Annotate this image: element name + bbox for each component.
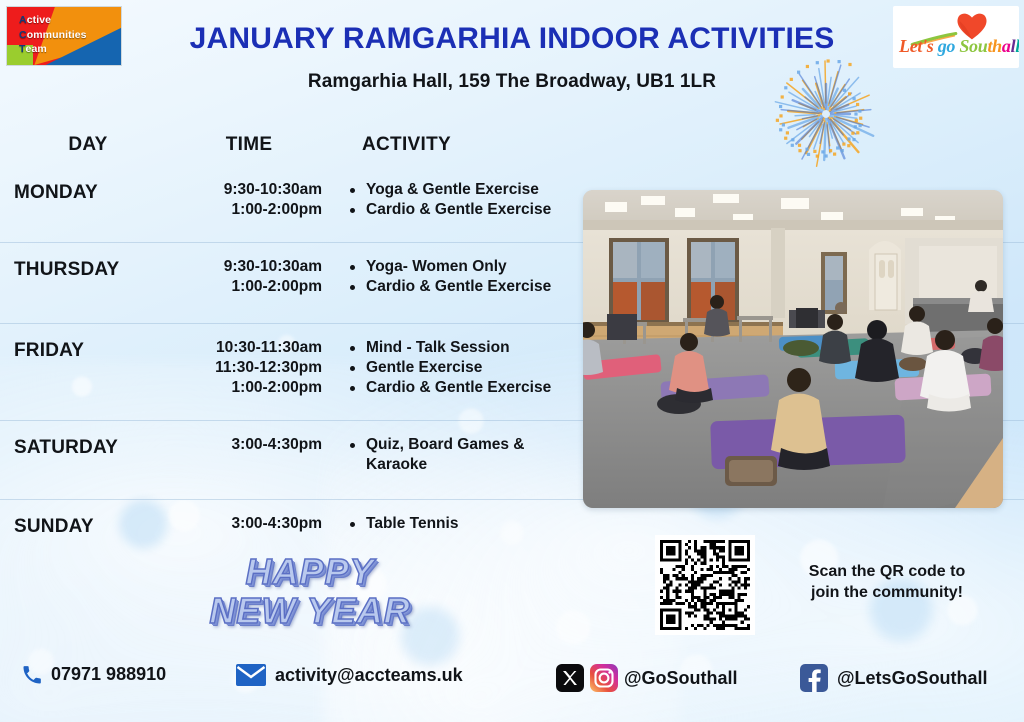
row-time: 10:30-11:30am [176, 338, 322, 358]
email-address: activity@accteams.uk [275, 665, 463, 686]
row-activity-list: Table Tennis [348, 514, 1024, 534]
row-day-label: MONDAY [14, 182, 98, 203]
contact-footer: 07971 988910 activity@accteams.uk [0, 658, 1024, 708]
row-day-label: SATURDAY [14, 437, 118, 458]
qr-section: Scan the QR code to join the community! [655, 535, 995, 639]
instagram-icon[interactable] [590, 664, 618, 692]
activity-item: Table Tennis [348, 514, 1024, 534]
row-time: 9:30-10:30am [176, 257, 322, 277]
social-gosouthall[interactable]: @GoSouthall [556, 664, 738, 692]
act-logo-active: ctive [27, 14, 51, 26]
row-time: 3:00-4:30pm [176, 514, 322, 534]
row-day-label: FRIDAY [14, 340, 84, 361]
contact-phone[interactable]: 07971 988910 [22, 664, 166, 685]
poster-canvas: Active Communities Team Let's go Southal… [0, 0, 1024, 722]
qr-caption-line-2: join the community! [779, 582, 995, 603]
yoga-class-photo [583, 190, 1003, 508]
social-handle-letsgosouthall: @LetsGoSouthall [837, 668, 988, 689]
facebook-icon[interactable] [800, 664, 828, 692]
act-logo-c: C [19, 29, 27, 41]
table-header-row: DAY TIME ACTIVITY [0, 130, 1024, 172]
qr-caption: Scan the QR code to join the community! [779, 561, 995, 603]
act-logo-team: eam [26, 43, 47, 55]
hny-line-2: NEW YEAR [190, 591, 430, 630]
column-header-time: TIME [176, 134, 322, 156]
act-logo-a: A [19, 14, 27, 26]
happy-new-year-text: HAPPY NEW YEAR [190, 552, 430, 630]
row-time: 1:00-2:00pm [176, 200, 322, 220]
row-day-label: THURSDAY [14, 259, 119, 280]
column-header-activity: ACTIVITY [322, 134, 1024, 156]
qr-code-matrix [660, 540, 750, 630]
page-title: JANUARY RAMGARHIA INDOOR ACTIVITIES [0, 22, 1024, 56]
qr-caption-line-1: Scan the QR code to [779, 561, 995, 582]
activity-photo [583, 190, 1003, 508]
social-letsgosouthall[interactable]: @LetsGoSouthall [800, 664, 988, 692]
row-time: 9:30-10:30am [176, 180, 322, 200]
activity-item: Quiz, Board Games & Karaoke [348, 435, 566, 475]
qr-code-icon[interactable] [655, 535, 755, 635]
act-logo-text: Active Communities Team [19, 13, 87, 57]
phone-number: 07971 988910 [51, 664, 166, 685]
hny-line-1: HAPPY [245, 551, 374, 592]
row-time: 11:30-12:30pm [176, 358, 322, 378]
row-time: 1:00-2:00pm [176, 378, 322, 398]
social-handle-gosouthall: @GoSouthall [624, 668, 738, 689]
row-time: 3:00-4:30pm [176, 435, 322, 455]
envelope-icon [236, 664, 266, 686]
act-logo-communities: ommunities [27, 29, 87, 41]
column-header-day: DAY [0, 134, 176, 156]
contact-email[interactable]: activity@accteams.uk [236, 664, 463, 686]
row-time: 1:00-2:00pm [176, 277, 322, 297]
x-twitter-icon[interactable] [556, 664, 584, 692]
phone-icon [22, 665, 42, 685]
row-day-label: SUNDAY [14, 516, 94, 537]
